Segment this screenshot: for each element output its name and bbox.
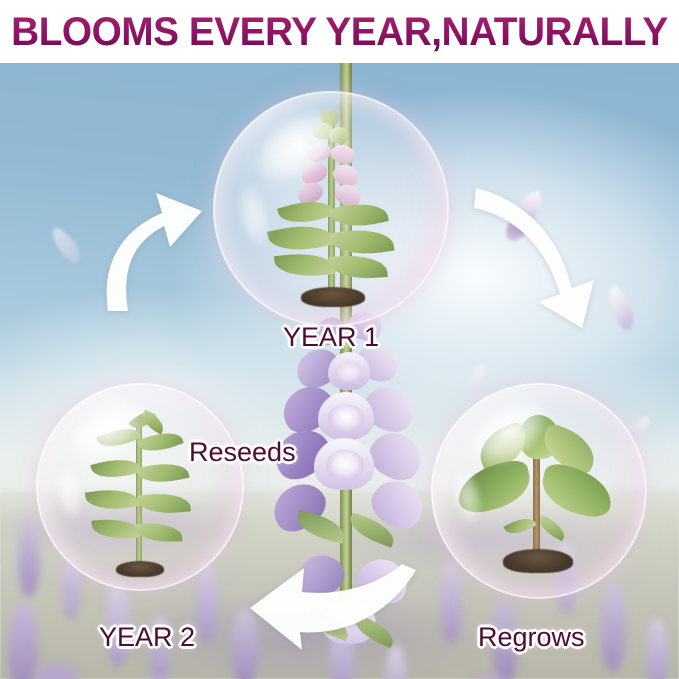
label-year-1: YEAR 1 [283,322,379,353]
plant-leaf [503,513,536,539]
plant-leaf [129,406,158,433]
page-title: BLOOMS EVERY YEAR,NATURALLY [11,12,668,52]
bubble-year-1 [213,91,449,327]
bubble-highlight [232,180,277,249]
plant-leaf [90,453,141,483]
foxglove-throat [328,404,364,432]
plant-leaf [537,461,618,521]
bubble-regrows [431,383,647,599]
plant-flower [332,181,364,209]
plant-leaf [267,219,335,258]
bubble-year-2 [36,383,244,591]
plant-flower [294,179,326,208]
plant-bud [329,127,349,143]
plant-leaf [85,485,139,513]
bubble-contents-year-1 [213,91,449,327]
plant-leaf [136,458,189,488]
label-year-2: YEAR 2 [99,622,195,653]
label-regrows: Regrows [478,622,585,653]
plant-flower [305,140,333,165]
plant-leaf [472,420,534,474]
plant-leaf [517,413,561,461]
title-banner: BLOOMS EVERY YEAR,NATURALLY [0,0,679,63]
plant-flower [298,159,330,187]
plant-stem [136,419,142,571]
plant-leaf [329,197,389,232]
plant-leaf [536,422,601,476]
plant-leaf [277,194,335,230]
plant-leaf [329,225,394,259]
plant-bud [313,123,333,139]
plant-leaf [274,250,336,280]
label-reseeds: Reseeds [189,437,296,468]
bubble-rim [36,383,244,591]
plant-flower [329,142,357,166]
bubble-contents-year-2 [36,383,244,591]
plant-stem [533,439,540,561]
plant-leaf [91,517,140,540]
plant-leaf [535,515,568,541]
bubble-highlight [50,461,87,521]
soil-mound [503,549,573,573]
bubble-contents-regrows [431,383,647,599]
plant-leaf [137,490,191,516]
foxglove-throat [336,362,362,382]
plant-leaf [328,253,388,281]
soil-mound [116,561,164,577]
plant-stem [328,113,335,299]
infographic-scene: YEAR 1 Reseeds YEAR 2 Regrows BLOOMS EVE… [0,0,679,679]
plant-flower [330,161,361,189]
plant-bud [321,109,339,125]
bubble-rim [431,383,647,599]
bubble-highlight [447,465,486,528]
plant-leaf [453,458,535,516]
soil-mound [301,287,365,307]
plant-leaf [96,422,141,453]
plant-leaf [136,426,184,458]
foxglove-bell [362,424,429,488]
foxglove-bell [352,552,415,611]
bubble-rim [213,91,449,327]
plant-leaf [138,409,168,434]
plant-leaf [136,522,183,543]
foxglove-throat [326,450,364,480]
